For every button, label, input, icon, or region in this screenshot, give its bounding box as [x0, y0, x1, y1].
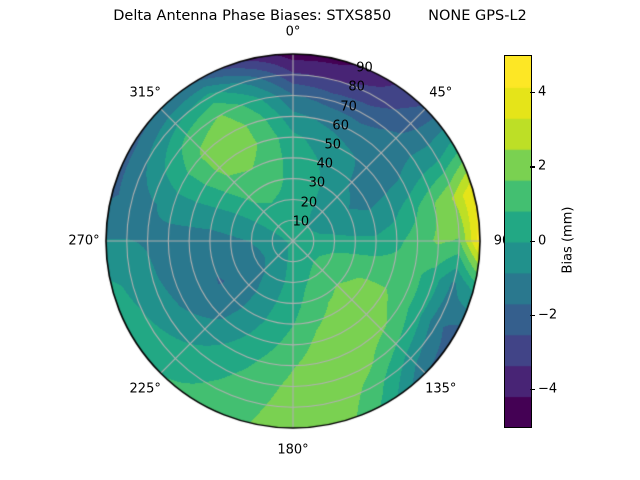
colorbar-tick-label: −4: [538, 381, 557, 396]
zenith-label-30: 30: [309, 176, 326, 191]
colorbar-tick-mark: [530, 241, 535, 242]
colorbar-tick-label: −2: [538, 307, 557, 322]
colorbar-tick-label: 2: [538, 159, 546, 174]
azimuth-label-45: 45°: [429, 86, 452, 101]
zenith-label-70: 70: [340, 99, 357, 114]
colorbar-gradient: [504, 55, 532, 428]
azimuth-label-0: 0°: [286, 25, 301, 40]
azimuth-label-225: 225°: [130, 381, 161, 396]
zenith-label-80: 80: [348, 80, 365, 95]
zenith-label-50: 50: [324, 138, 341, 153]
colorbar-tick-mark: [530, 92, 535, 93]
azimuth-label-135: 135°: [425, 381, 456, 396]
zenith-label-10: 10: [293, 214, 310, 229]
colorbar: −4−2024: [504, 55, 530, 426]
zenith-label-20: 20: [301, 195, 318, 210]
azimuth-label-270: 270°: [68, 234, 99, 249]
colorbar-tick-mark: [530, 389, 535, 390]
colorbar-tick-mark: [530, 315, 535, 316]
zenith-label-40: 40: [317, 157, 334, 172]
zenith-label-90: 90: [356, 61, 373, 76]
colorbar-axis-label: Bias (mm): [561, 207, 576, 274]
azimuth-label-315: 315°: [130, 86, 161, 101]
figure-canvas: Delta Antenna Phase Biases: STXS850 NONE…: [0, 0, 640, 480]
colorbar-tick-mark: [530, 166, 535, 167]
colorbar-tick-label: 0: [538, 233, 546, 248]
zenith-label-60: 60: [332, 118, 349, 133]
colorbar-tick-label: 4: [538, 85, 546, 100]
azimuth-label-180: 180°: [277, 443, 308, 458]
